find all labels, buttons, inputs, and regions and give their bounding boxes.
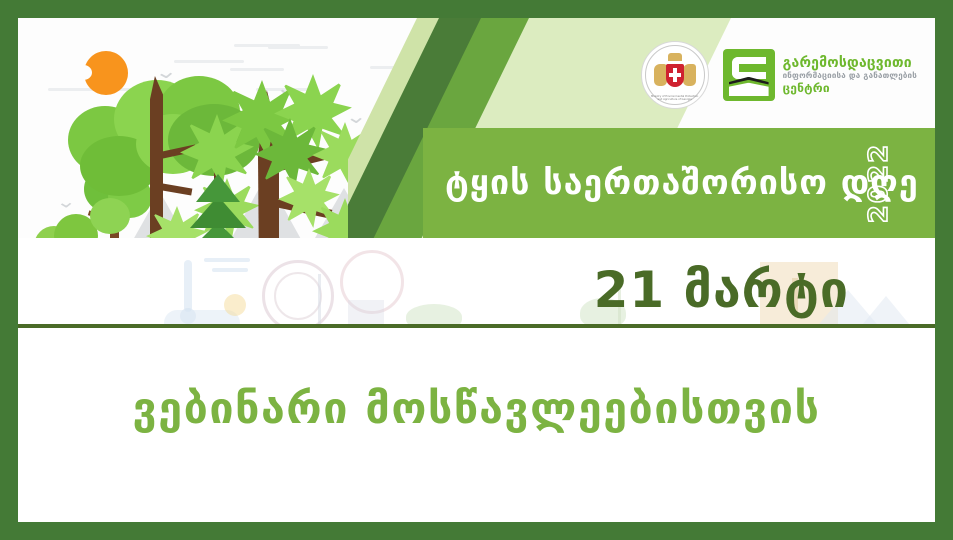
lion-right-icon bbox=[683, 64, 696, 86]
compass-inner-icon bbox=[274, 272, 322, 320]
eiec-c-shape-icon bbox=[732, 57, 766, 79]
open-book-pages-icon bbox=[729, 82, 769, 96]
date-strip: 21 მარტი bbox=[18, 238, 935, 324]
cloud-line bbox=[174, 60, 244, 63]
cloud-line bbox=[230, 68, 284, 71]
lion-left-icon bbox=[654, 64, 667, 86]
section-divider bbox=[18, 324, 935, 328]
bird-icon: ⌄ bbox=[55, 193, 77, 212]
foliage bbox=[90, 198, 130, 234]
poster-canvas: ⌄ ⌄ ⌄ ⌄ ⌄ ⌄ bbox=[18, 18, 935, 522]
ministry-coat-of-arms-icon: Ministry of Environmental Protection and… bbox=[641, 41, 709, 109]
cloud-line bbox=[234, 44, 300, 47]
sun-icon bbox=[84, 51, 128, 95]
seal-caption: Ministry of Environmental Protection and… bbox=[649, 95, 701, 101]
headline-section: ვებინარი მოსწავლეებისთვის bbox=[18, 328, 935, 522]
headline-text: ვებინარი მოსწავლეებისთვის bbox=[133, 384, 821, 434]
title-band: ტყის საერთაშორისო დღე 2022 bbox=[423, 128, 935, 238]
mountain-icon bbox=[858, 296, 914, 324]
panel-icon bbox=[348, 300, 384, 324]
small-sun-icon bbox=[224, 294, 246, 316]
shield-icon bbox=[666, 64, 684, 87]
thermometer-icon bbox=[184, 260, 192, 312]
shrub-icon bbox=[406, 304, 462, 324]
eiec-mark-icon bbox=[723, 49, 775, 101]
logo-group: Ministry of Environmental Protection and… bbox=[641, 38, 917, 112]
poster-root: ⌄ ⌄ ⌄ ⌄ ⌄ ⌄ bbox=[0, 0, 953, 540]
eiec-line-2: ინფორმაციისა და განათლების bbox=[783, 71, 917, 80]
wind-icon bbox=[204, 258, 250, 262]
event-date: 21 მარტი bbox=[594, 261, 849, 319]
year-label: 2022 bbox=[864, 143, 894, 223]
windmill-icon bbox=[318, 274, 321, 324]
eiec-wordmark: გარემოსდაცვითი ინფორმაციისა და განათლები… bbox=[783, 55, 917, 95]
eiec-line-1: გარემოსდაცვითი bbox=[783, 55, 917, 72]
event-title: ტყის საერთაშორისო დღე bbox=[445, 163, 919, 203]
eiec-line-3: ცენტრი bbox=[783, 81, 917, 95]
conifer-foliage bbox=[196, 174, 240, 202]
wind-icon bbox=[212, 268, 248, 272]
eiec-logo: გარემოსდაცვითი ინფორმაციისა და განათლები… bbox=[723, 49, 917, 101]
crown-icon bbox=[668, 53, 682, 61]
